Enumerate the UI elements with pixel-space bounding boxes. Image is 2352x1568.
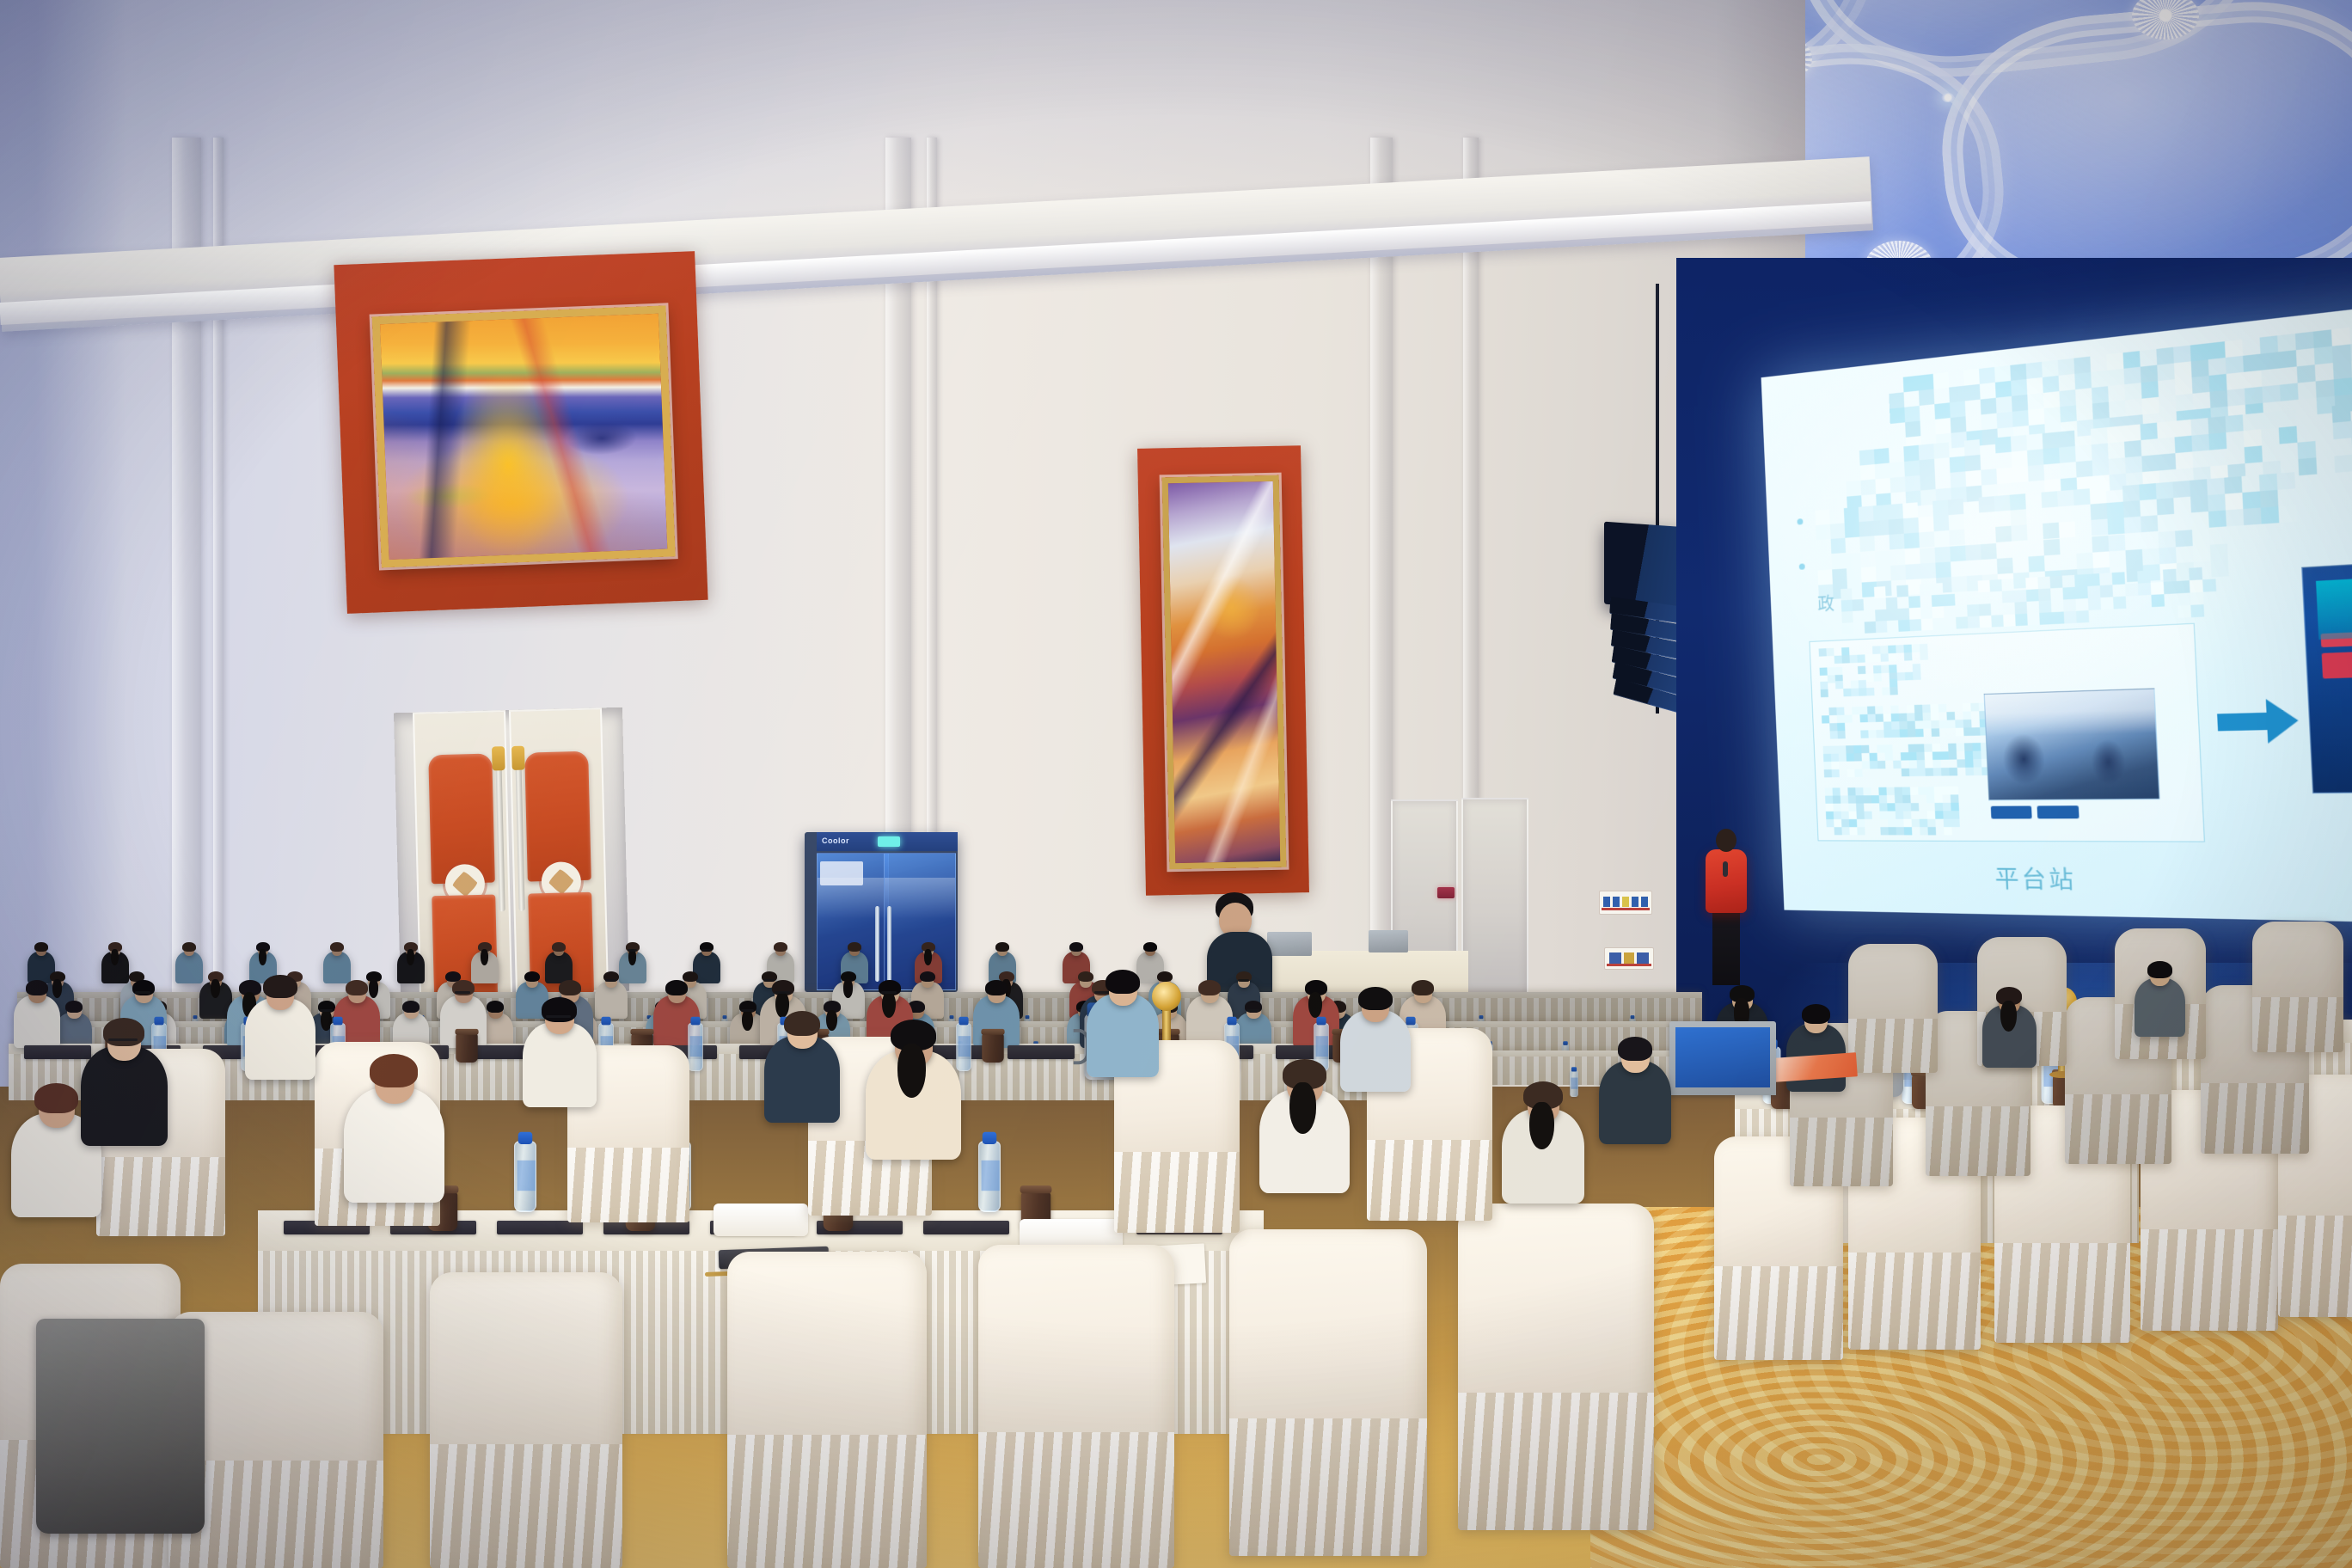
presenter-upper-body [1706, 849, 1747, 913]
person-hair [330, 942, 344, 952]
placemat [24, 1045, 91, 1059]
exit-sign [1437, 887, 1455, 898]
door-recess [394, 707, 629, 996]
handheld-microphone [1723, 861, 1728, 877]
eyeglasses [763, 979, 775, 982]
chair-skirt-pleats [2141, 1229, 2278, 1331]
slide-detail-card [1809, 623, 2205, 842]
person-ponytail [481, 949, 489, 965]
cooler-display [878, 836, 900, 847]
eyeglasses [1246, 1009, 1259, 1012]
conference-hall-photo: Coolor 政 [0, 0, 2352, 1568]
banquet-chair[interactable] [978, 1245, 1174, 1568]
person-hair [65, 1001, 83, 1013]
eyeglasses [108, 1038, 138, 1041]
chair-skirt-pleats [1848, 1253, 1981, 1350]
person-hair [182, 942, 196, 952]
chair-skirt-pleats [2065, 1094, 2171, 1164]
presenter-lower-body [1712, 910, 1740, 985]
banquet-chair[interactable] [1229, 1229, 1427, 1556]
water-bottle [514, 1141, 536, 1212]
eyeglasses [1094, 991, 1110, 994]
chair-skirt-pleats [1714, 1266, 1843, 1360]
person-hair [1198, 980, 1221, 995]
wall-notice-lower [1604, 947, 1654, 970]
chair-skirt-pleats [1458, 1393, 1654, 1530]
presenter-head [1716, 829, 1736, 852]
person-hair [774, 942, 787, 952]
chair-skirt-pleats [96, 1157, 225, 1236]
av-laptop-1[interactable] [1267, 932, 1312, 956]
slide-bullet-icon-2 [1799, 563, 1805, 569]
slide-card-list [1825, 787, 1960, 828]
person-torso [175, 952, 204, 983]
cooler-handle-left[interactable] [875, 906, 879, 982]
chair-skirt-pleats [2201, 1083, 2309, 1154]
painting-canvas [380, 314, 667, 560]
person-hair [370, 1054, 418, 1087]
slide-transition-arrow [2216, 696, 2300, 746]
eyeglasses [135, 991, 150, 994]
banquet-chair[interactable] [2252, 922, 2343, 1052]
chair-skirt-pleats [567, 1148, 689, 1222]
projection-screen: 政 平台站 [1761, 301, 2352, 924]
chair-skirt-pleats [1367, 1140, 1492, 1221]
slide-screenshot-photo [1984, 688, 2160, 800]
person-hair [848, 942, 861, 952]
person-hair [683, 971, 698, 982]
person-ponytail [407, 949, 415, 965]
person-ponytail [259, 949, 267, 965]
tea-cup [982, 1033, 1004, 1063]
person-torso [245, 998, 316, 1080]
person-ponytail [2000, 1001, 2017, 1032]
eyeglasses [320, 1009, 332, 1012]
water-bottle [978, 1141, 1001, 1212]
person-hair [985, 980, 1008, 995]
eyeglasses [605, 979, 616, 982]
banquet-chair[interactable] [1848, 944, 1938, 1073]
chair-skirt-pleats [2252, 997, 2343, 1052]
person-torso [764, 1036, 840, 1123]
chair-skirt-pleats [1848, 1019, 1938, 1073]
eyeglasses [775, 991, 790, 994]
slide-photo-button-1 [1991, 805, 2032, 818]
person-ponytail [742, 1010, 753, 1031]
person-ponytail [369, 979, 378, 997]
person-ponytail [924, 949, 933, 965]
placemat [923, 1221, 1009, 1234]
chair-skirt-pleats [1114, 1152, 1240, 1233]
cooler-brand-text: Coolor [822, 836, 849, 845]
folded-towel [714, 1204, 808, 1236]
person-hair [1358, 987, 1393, 1010]
banquet-chair[interactable] [1458, 1204, 1654, 1530]
eyeglasses [881, 991, 897, 994]
person-ponytail [211, 979, 220, 997]
banquet-chair[interactable] [727, 1252, 927, 1568]
person-torso [523, 1022, 597, 1107]
eyeglasses [455, 991, 470, 994]
art-panel-right [1137, 445, 1309, 896]
person-ponytail [1529, 1102, 1554, 1149]
eyeglasses [546, 1015, 571, 1018]
person-hair [995, 942, 1009, 952]
slide-bullet-icon-1 [1797, 518, 1803, 525]
slide-card-meta [1820, 664, 1921, 677]
eyeglasses [701, 949, 711, 952]
slide-card-body [1822, 702, 1997, 732]
person-torso [323, 952, 352, 983]
eyeglasses [1238, 979, 1249, 982]
person-ponytail [111, 949, 119, 965]
person-torso [81, 1046, 168, 1146]
laptop[interactable] [1669, 1021, 1776, 1095]
person-hair [487, 1001, 504, 1013]
painting-canvas [1168, 481, 1280, 863]
abstract-landscape-painting [372, 305, 676, 567]
person-torso [2135, 978, 2186, 1037]
person-hair [1143, 942, 1157, 952]
person-ponytail [843, 979, 853, 997]
water-bottle [688, 1023, 703, 1071]
slide-card-heading [1819, 643, 1945, 663]
person-hair [34, 942, 48, 952]
person-torso [545, 952, 573, 983]
tea-cup [456, 1033, 478, 1063]
water-bottle [956, 1023, 971, 1071]
chair-skirt-pleats [727, 1435, 927, 1568]
person-hair [1802, 1004, 1830, 1024]
chair-skirt-pleats [2278, 1216, 2352, 1317]
person-hair [2147, 961, 2172, 978]
ceiling-downlight [1941, 93, 1955, 102]
placemat [497, 1221, 583, 1234]
av-laptop-2[interactable] [1369, 930, 1408, 952]
person-hair [1618, 1037, 1652, 1061]
person-hair [34, 1083, 78, 1113]
person-hair [1412, 980, 1434, 995]
person-hair [26, 980, 48, 995]
person-torso [595, 982, 627, 1019]
abstract-figure-painting [1162, 475, 1287, 870]
person-hair [665, 980, 688, 995]
person-hair [1069, 942, 1083, 952]
slide-photo-button-2 [2037, 805, 2079, 818]
person-hair [103, 1018, 144, 1046]
chair-skirt-pleats [1926, 1106, 2030, 1176]
slide-caption: 平台站 [1994, 861, 2077, 896]
person-torso [1340, 1010, 1412, 1092]
placemat [1008, 1045, 1075, 1059]
person-hair [1078, 971, 1093, 982]
eyeglasses [741, 1009, 753, 1012]
chair-skirt-pleats [978, 1432, 1174, 1568]
door-handle[interactable] [516, 765, 525, 911]
chair-skirt-pleats [1790, 1118, 1893, 1186]
water-bottle [1570, 1070, 1578, 1097]
person-hair [402, 1001, 420, 1013]
service-door-2[interactable] [1461, 798, 1528, 995]
person-hair [524, 971, 540, 982]
person-hair [920, 971, 935, 982]
door-handle[interactable] [496, 765, 505, 911]
person-torso [1087, 994, 1159, 1077]
person-hair [784, 1011, 820, 1036]
eyeglasses [628, 949, 637, 952]
person-ponytail [52, 979, 62, 997]
person-torso [344, 1087, 444, 1203]
cooler-label [820, 861, 863, 885]
person-hair [1157, 971, 1173, 982]
person-ponytail [628, 949, 637, 965]
person-hair [1106, 970, 1140, 994]
backpack [36, 1319, 205, 1534]
person-torso [14, 995, 60, 1049]
banquet-chair[interactable] [430, 1272, 622, 1568]
person-hair [559, 980, 581, 995]
person-ponytail [826, 1010, 837, 1031]
art-panel-left [334, 251, 707, 614]
wall-notice-upper [1599, 891, 1652, 915]
chair-skirt-pleats [430, 1444, 622, 1568]
slide-card-stats [1823, 742, 2006, 770]
projection-screen-surface: 政 平台站 [1761, 301, 2352, 924]
chair-skirt-pleats [1994, 1243, 2130, 1343]
slide-mockup-badge-1 [2321, 631, 2352, 647]
slide-mockup-badge-2 [2322, 649, 2352, 678]
chair-skirt-pleats [1229, 1418, 1427, 1556]
cooler-handle-right[interactable] [887, 906, 891, 982]
slide-section-heading: 政 [1817, 589, 1838, 616]
slide-card-tag [1820, 679, 1897, 692]
slide-mobile-mockup [2301, 560, 2352, 794]
wall-pilaster [1370, 138, 1393, 1032]
person-hair [263, 975, 297, 998]
entrance-door-left[interactable] [413, 710, 512, 996]
person-hair [552, 942, 566, 952]
person-hair [542, 997, 577, 1022]
person-torso [1599, 1061, 1671, 1144]
person-hair [346, 980, 368, 995]
